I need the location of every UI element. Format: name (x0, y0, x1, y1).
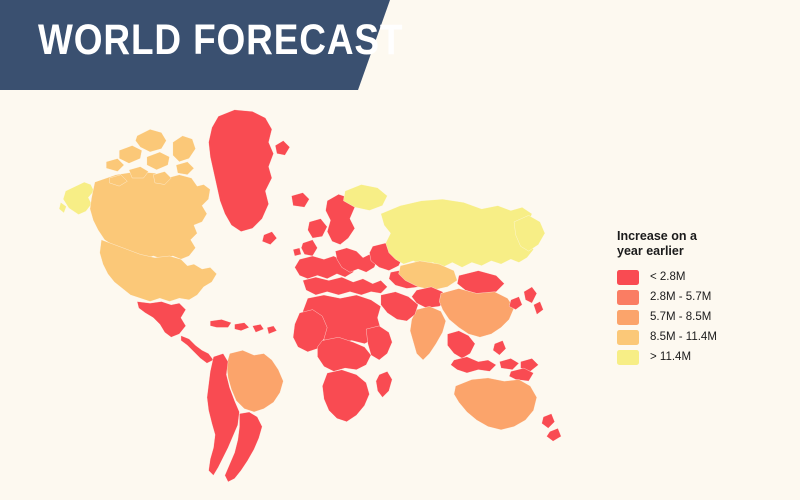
map-region-china[interactable] (439, 289, 514, 338)
legend-items: < 2.8M2.8M - 5.7M5.7M - 8.5M8.5M - 11.4M… (617, 267, 787, 367)
legend-label: 2.8M - 5.7M (650, 291, 711, 304)
legend-title-line-2: year earlier (617, 244, 684, 258)
legend-swatch (617, 330, 639, 345)
map-region-australia[interactable] (454, 378, 537, 430)
legend-row[interactable]: 8.5M - 11.4M (617, 327, 787, 347)
map-region-greenland[interactable] (209, 110, 290, 245)
map-legend: Increase on a year earlier < 2.8M2.8M - … (617, 229, 787, 367)
world-map (20, 100, 610, 490)
legend-swatch (617, 310, 639, 325)
map-region-africa-south[interactable] (322, 370, 369, 422)
map-region-mediterranean[interactable] (303, 277, 388, 295)
legend-label: 8.5M - 11.4M (650, 331, 717, 344)
legend-swatch (617, 270, 639, 285)
legend-row[interactable]: 5.7M - 8.5M (617, 307, 787, 327)
legend-label: 5.7M - 8.5M (650, 311, 711, 324)
map-region-india[interactable] (410, 306, 446, 360)
map-region-philippines[interactable] (493, 341, 506, 356)
map-region-caribbean[interactable] (210, 319, 277, 334)
map-region-mexico[interactable] (137, 302, 186, 338)
legend-title: Increase on a year earlier (617, 229, 722, 258)
map-region-madagascar[interactable] (376, 371, 392, 397)
legend-row[interactable]: 2.8M - 5.7M (617, 287, 787, 307)
map-region-central-america[interactable] (181, 336, 214, 364)
world-map-container (20, 100, 610, 490)
legend-row[interactable]: > 11.4M (617, 347, 787, 367)
page-title: WORLD FORECAST (38, 14, 403, 66)
legend-label: < 2.8M (650, 271, 685, 284)
infographic-root: WORLD FORECAST (0, 0, 800, 500)
legend-swatch (617, 290, 639, 305)
legend-row[interactable]: < 2.8M (617, 267, 787, 287)
map-region-alaska[interactable] (59, 182, 94, 215)
legend-swatch (617, 350, 639, 365)
map-region-japan[interactable] (524, 287, 544, 315)
map-region-southeast-asia[interactable] (447, 331, 475, 359)
map-region-uk-ireland[interactable] (293, 240, 317, 256)
map-region-new-zealand[interactable] (542, 414, 562, 442)
map-region-iceland[interactable] (291, 193, 309, 208)
legend-title-line-1: Increase on a (617, 229, 697, 243)
legend-label: > 11.4M (650, 351, 691, 364)
